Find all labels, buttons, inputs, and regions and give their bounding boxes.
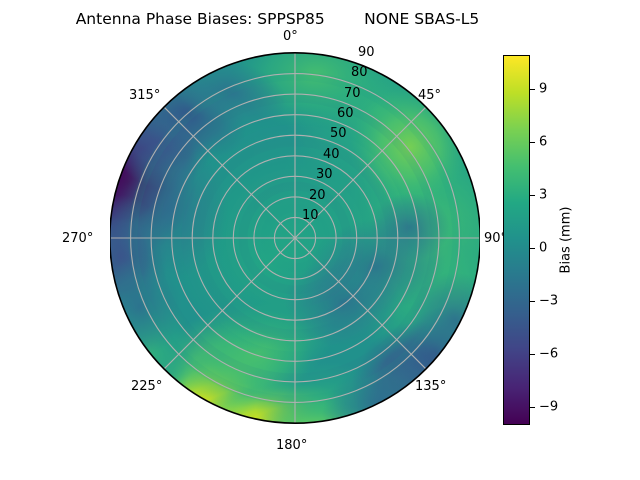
colorbar-tick-0	[530, 248, 535, 249]
colorbar-tick-neg6	[530, 354, 535, 355]
radial-tick-30: 30	[316, 167, 333, 182]
colorbar-ticklabel-neg6: −6	[539, 347, 558, 362]
radial-tick-10: 10	[302, 208, 319, 223]
angular-tick-45: 45°	[418, 88, 441, 103]
radial-tick-90: 90	[358, 45, 375, 60]
colorbar-tick-neg3	[530, 301, 535, 302]
radial-tick-60: 60	[337, 106, 354, 121]
angular-tick-315: 315°	[129, 88, 160, 103]
polar-plot-svg	[110, 52, 480, 424]
angular-tick-0: 0°	[283, 29, 298, 44]
angular-tick-180: 180°	[276, 438, 307, 453]
radial-tick-70: 70	[344, 86, 361, 101]
colorbar-ticklabel-3: 3	[539, 188, 547, 203]
matplotlib-figure: Antenna Phase Biases: SPPSP85 NONE SBAS-…	[0, 0, 640, 480]
colorbar-ticklabel-neg3: −3	[539, 294, 558, 309]
chart-title: Antenna Phase Biases: SPPSP85 NONE SBAS-…	[0, 10, 555, 28]
polar-grid-spokes	[111, 53, 479, 423]
angular-tick-135: 135°	[415, 379, 446, 394]
polar-axes	[110, 52, 480, 424]
colorbar-tick-6	[530, 142, 535, 143]
angular-tick-225: 225°	[131, 379, 162, 394]
radial-tick-50: 50	[330, 126, 347, 141]
colorbar-ticklabel-9: 9	[539, 82, 547, 97]
colorbar-ticklabel-0: 0	[539, 241, 547, 256]
radial-tick-80: 80	[351, 65, 368, 80]
colorbar: 9 6 3 0 −3 −6 −9	[503, 55, 530, 425]
angular-tick-270: 270°	[62, 231, 93, 246]
colorbar-tick-9	[530, 89, 535, 90]
radial-tick-20: 20	[309, 188, 326, 203]
colorbar-tick-3	[530, 195, 535, 196]
colorbar-tick-neg9	[530, 407, 535, 408]
colorbar-ticklabel-neg9: −9	[539, 400, 558, 415]
colorbar-ticklabel-6: 6	[539, 135, 547, 150]
colorbar-gradient	[503, 55, 530, 425]
colorbar-axis-label: Bias (mm)	[559, 207, 574, 274]
radial-tick-40: 40	[323, 147, 340, 162]
